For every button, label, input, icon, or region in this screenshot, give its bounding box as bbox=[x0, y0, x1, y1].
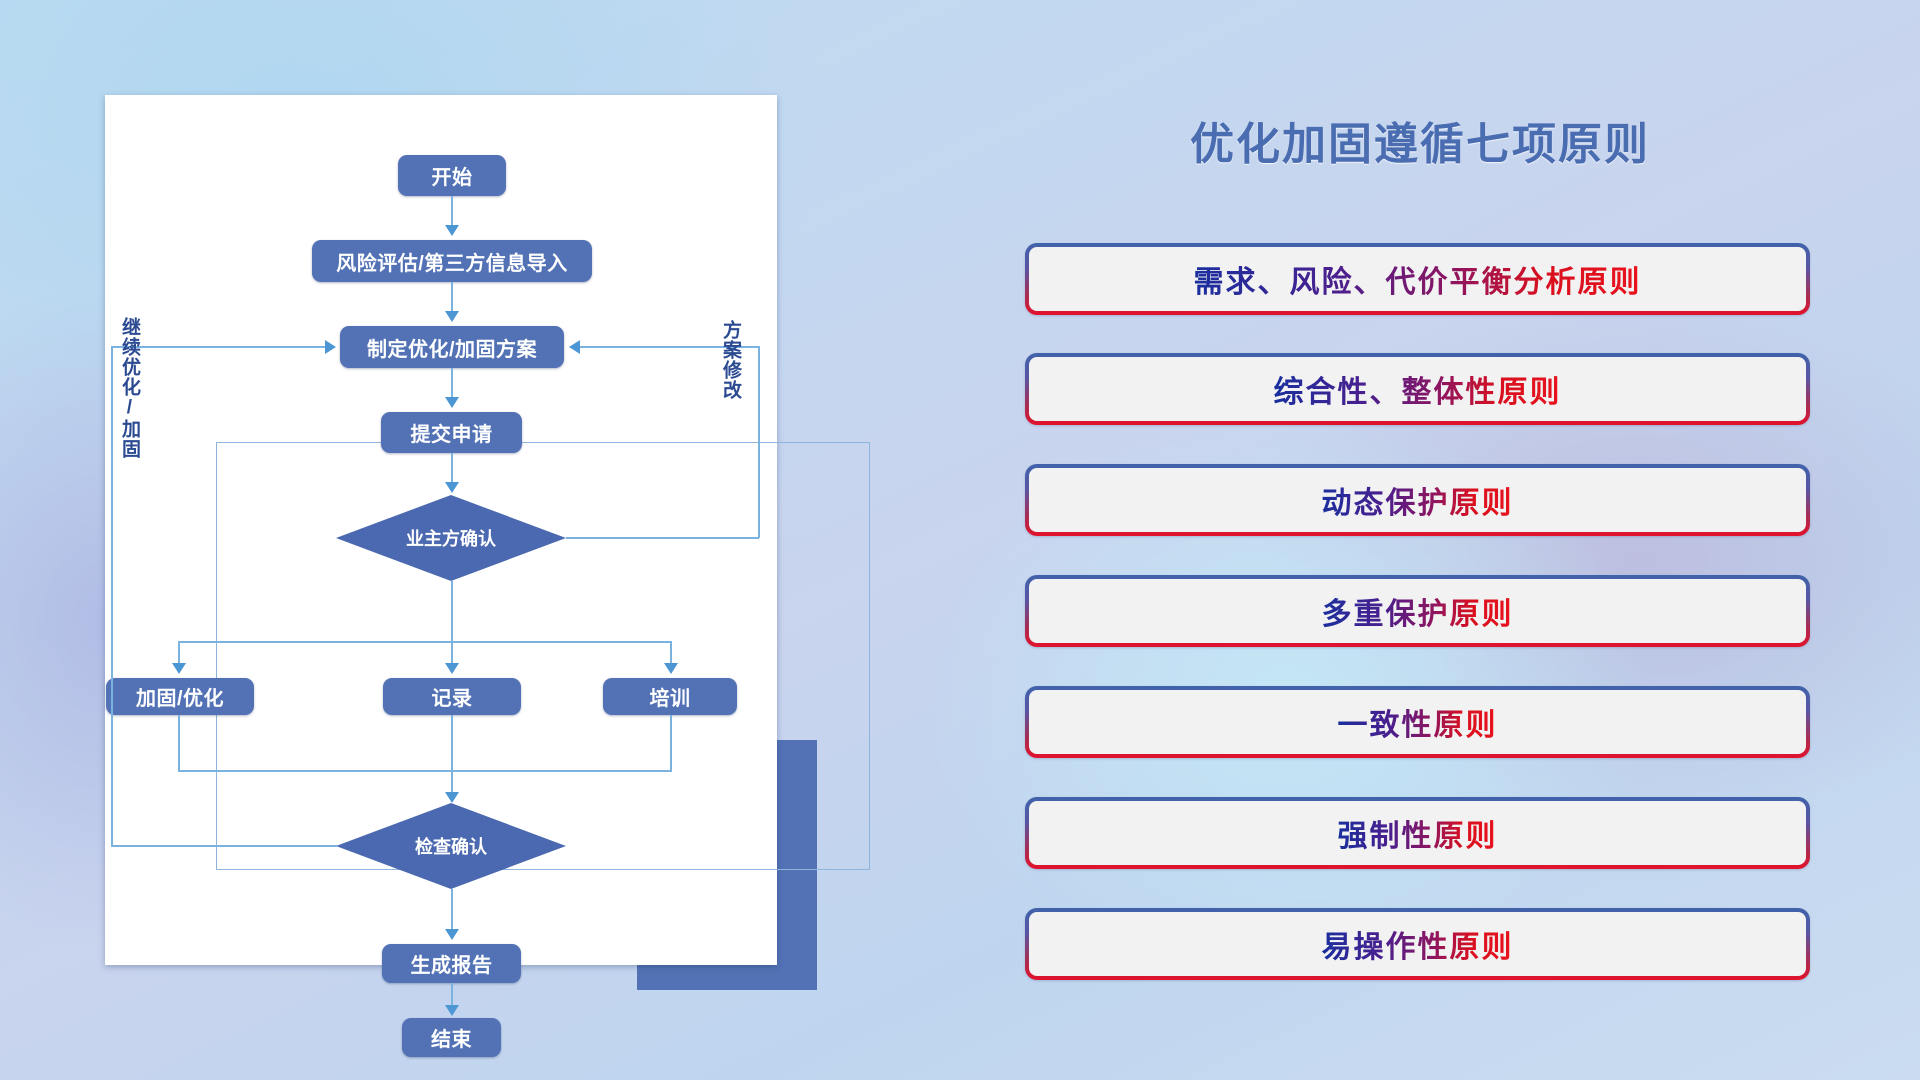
node-training-label: 培训 bbox=[650, 682, 691, 711]
node-generate-report-label: 生成报告 bbox=[411, 949, 493, 978]
arrowhead-submit-owner-icon bbox=[445, 482, 459, 493]
node-start[interactable]: 开始 bbox=[398, 155, 506, 196]
node-record-label: 记录 bbox=[432, 682, 473, 711]
arrowhead-split-right-icon bbox=[664, 663, 678, 674]
node-submit-application[interactable]: 提交申请 bbox=[381, 412, 522, 453]
principle-item-7[interactable]: 易操作性原则 bbox=[1025, 908, 1810, 980]
decision-owner-confirm-label: 业主方确认 bbox=[406, 525, 496, 551]
principle-item-6[interactable]: 强制性原则 bbox=[1025, 797, 1810, 869]
principle-item-3[interactable]: 动态保护原则 bbox=[1025, 464, 1810, 536]
arrowhead-report-end-icon bbox=[445, 1005, 459, 1016]
connector-record-down bbox=[451, 715, 453, 795]
flowchart-card: 开始 风险评估/第三方信息导入 制定优化/加固方案 继续优化/加固 方案修改 提… bbox=[105, 95, 777, 965]
arrowhead-left-loop-icon bbox=[325, 340, 336, 354]
connector-training-down bbox=[670, 715, 672, 772]
principle-item-4[interactable]: 多重保护原则 bbox=[1025, 575, 1810, 647]
node-generate-report[interactable]: 生成报告 bbox=[382, 944, 521, 983]
decision-owner-confirm[interactable]: 业主方确认 bbox=[336, 495, 566, 581]
principle-item-3-label: 动态保护原则 bbox=[1322, 478, 1514, 522]
principle-item-5[interactable]: 一致性原则 bbox=[1025, 686, 1810, 758]
node-make-plan[interactable]: 制定优化/加固方案 bbox=[340, 326, 564, 368]
node-end[interactable]: 结束 bbox=[402, 1018, 501, 1057]
arrowhead-plan-submit-icon bbox=[445, 397, 459, 408]
principle-item-4-label: 多重保护原则 bbox=[1322, 589, 1514, 633]
connector-left-loop-horizontal bbox=[111, 346, 325, 348]
arrowhead-split-left-icon bbox=[172, 663, 186, 674]
principle-item-5-label: 一致性原则 bbox=[1338, 700, 1498, 744]
principles-title: 优化加固遵循七项原则 bbox=[1020, 108, 1820, 172]
node-reinforce-optimize[interactable]: 加固/优化 bbox=[106, 678, 254, 715]
principle-item-1[interactable]: 需求、风险、代价平衡分析原则 bbox=[1025, 243, 1810, 315]
arrowhead-split-mid-icon bbox=[445, 663, 459, 674]
connector-check-report bbox=[451, 889, 453, 933]
principle-item-7-label: 易操作性原则 bbox=[1322, 922, 1514, 966]
node-reinforce-optimize-label: 加固/优化 bbox=[136, 682, 224, 711]
slide-canvas: 开始 风险评估/第三方信息导入 制定优化/加固方案 继续优化/加固 方案修改 提… bbox=[0, 0, 1920, 1080]
arrowhead-start-risk-icon bbox=[445, 225, 459, 236]
node-end-label: 结束 bbox=[431, 1023, 472, 1052]
connector-owner-right bbox=[566, 537, 759, 539]
decision-check-confirm-label: 检查确认 bbox=[415, 833, 487, 859]
edge-label-right-loop: 方案修改 bbox=[720, 320, 740, 400]
edge-label-left-loop: 继续优化/加固 bbox=[119, 317, 139, 459]
principle-item-2[interactable]: 综合性、整体性原则 bbox=[1025, 353, 1810, 425]
principle-item-2-label: 综合性、整体性原则 bbox=[1274, 367, 1562, 411]
arrowhead-risk-plan-icon bbox=[445, 311, 459, 322]
node-risk-assessment[interactable]: 风险评估/第三方信息导入 bbox=[312, 240, 592, 282]
connector-merge-horizontal bbox=[178, 770, 671, 772]
principle-item-6-label: 强制性原则 bbox=[1338, 811, 1498, 855]
connector-left-vertical bbox=[111, 346, 113, 846]
connector-owner-split bbox=[451, 581, 453, 643]
principle-item-1-label: 需求、风险、代价平衡分析原则 bbox=[1194, 257, 1642, 301]
decision-check-confirm[interactable]: 检查确认 bbox=[336, 803, 566, 889]
connector-split-horizontal bbox=[178, 641, 671, 643]
connector-check-left bbox=[111, 845, 338, 847]
node-record[interactable]: 记录 bbox=[383, 678, 521, 715]
connector-right-vertical bbox=[758, 346, 760, 538]
arrowhead-right-loop-icon bbox=[569, 340, 580, 354]
node-training[interactable]: 培训 bbox=[603, 678, 737, 715]
node-make-plan-label: 制定优化/加固方案 bbox=[367, 333, 537, 362]
node-risk-assessment-label: 风险评估/第三方信息导入 bbox=[336, 247, 568, 276]
arrowhead-check-report-icon bbox=[445, 929, 459, 940]
connector-reinforce-down bbox=[178, 715, 180, 772]
node-start-label: 开始 bbox=[432, 161, 473, 190]
arrowhead-merge-check-icon bbox=[445, 792, 459, 803]
node-submit-application-label: 提交申请 bbox=[411, 418, 493, 447]
